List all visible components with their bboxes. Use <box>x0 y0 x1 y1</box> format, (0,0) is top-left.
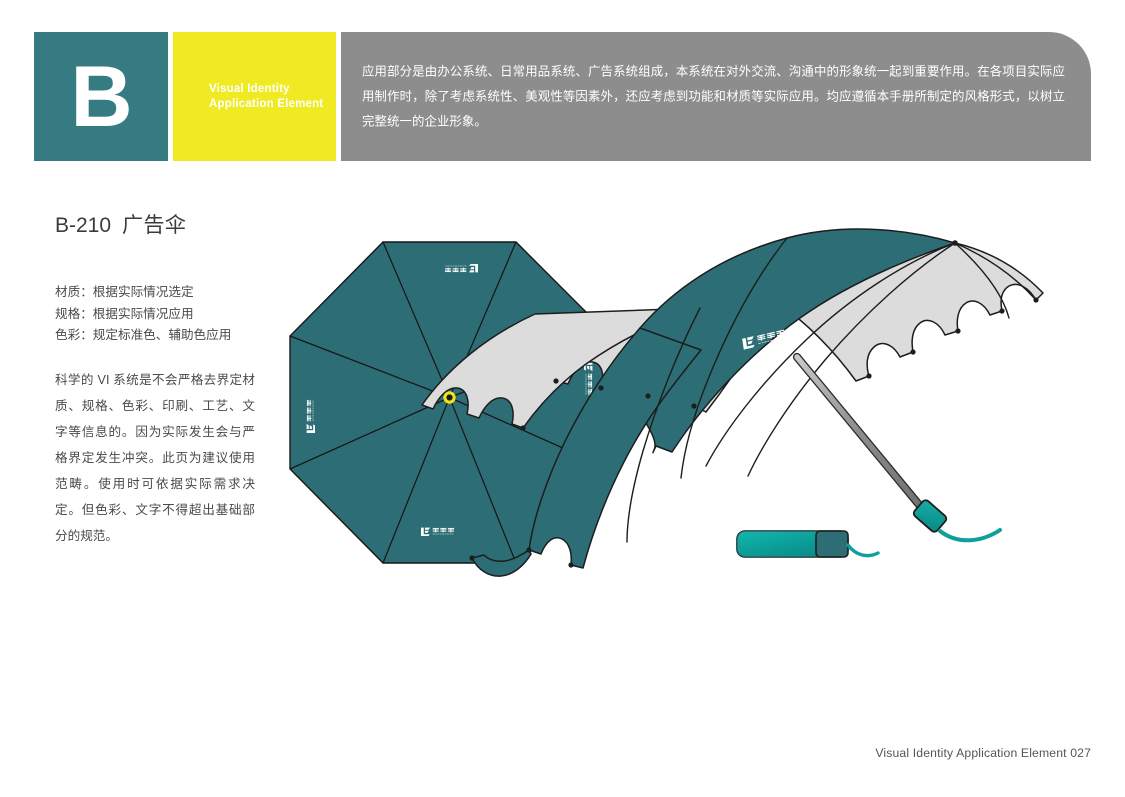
section-letter-block: B <box>34 32 168 161</box>
open-umbrella-illustration <box>422 229 1043 576</box>
page-title: B-210广告伞 <box>55 209 186 239</box>
flat-umbrella-canopy <box>290 242 610 563</box>
intro-text-block: 应用部分是由办公系统、日常用品系统、广告系统组成，本系统在对外交流、沟通中的形象… <box>341 32 1091 161</box>
open-umbrella-rib-tips <box>469 240 1038 567</box>
open-umbrella-logo <box>742 329 786 349</box>
open-umbrella-panel-teal-lower <box>529 328 701 568</box>
flat-umbrella-logo-top <box>445 264 478 272</box>
spec-list: 材质：根据实际情况选定 规格：根据实际情况应用 色彩：规定标准色、辅助色应用 <box>55 282 285 347</box>
vi-manual-page: B Visual Identity Application Element 应用… <box>0 0 1125 797</box>
folded-umbrella-cap <box>816 531 848 557</box>
folded-umbrella-body <box>737 531 848 557</box>
flat-umbrella-logo-bottom <box>421 528 454 536</box>
folded-umbrella-illustration <box>737 531 878 557</box>
flat-umbrella-illustration <box>290 242 610 563</box>
accent-block: Visual Identity Application Element <box>173 32 336 161</box>
spec-item-material: 材质：根据实际情况选定 <box>55 282 285 304</box>
page-footer: Visual Identity Application Element 027 <box>875 746 1091 760</box>
section-subtitle-en: Visual Identity Application Element <box>209 82 323 112</box>
open-umbrella-panel-teal-upper <box>621 229 955 453</box>
open-umbrella-panel-gray-left <box>422 308 700 428</box>
section-letter: B <box>34 54 168 140</box>
open-umbrella-strap <box>940 530 1000 540</box>
open-umbrella-panel-gray-lower-inner <box>556 302 777 412</box>
open-umbrella-handle <box>912 499 948 534</box>
flat-umbrella-logo-right <box>584 362 592 395</box>
page-header: B Visual Identity Application Element 应用… <box>34 32 1091 161</box>
folded-umbrella-strap <box>848 545 878 556</box>
flat-umbrella-hub-center <box>446 394 452 400</box>
intro-paragraph: 应用部分是由办公系统、日常用品系统、广告系统组成，本系统在对外交流、沟通中的形象… <box>362 59 1065 134</box>
open-umbrella-shaft <box>797 357 930 518</box>
spec-item-size: 规格：根据实际情况应用 <box>55 304 285 326</box>
open-umbrella-shaft-outline <box>797 357 930 518</box>
spec-item-color: 色彩：规定标准色、辅助色应用 <box>55 325 285 347</box>
open-umbrella-skirt-teal <box>472 550 531 576</box>
flat-umbrella-hub <box>443 391 455 403</box>
open-umbrella-ribs <box>627 238 1036 542</box>
flat-umbrella-ribs <box>290 242 610 563</box>
flat-umbrella-logo-left <box>307 400 315 433</box>
page-code: B-210 <box>55 214 111 237</box>
open-umbrella-panel-gray-upper <box>777 243 1043 381</box>
page-title-cn: 广告伞 <box>122 214 186 237</box>
usage-note: 科学的 VI 系统是不会严格去界定材质、规格、色彩、印刷、工艺、文字等信息的。因… <box>55 367 255 549</box>
folded-umbrella-body-sheen <box>737 531 848 557</box>
